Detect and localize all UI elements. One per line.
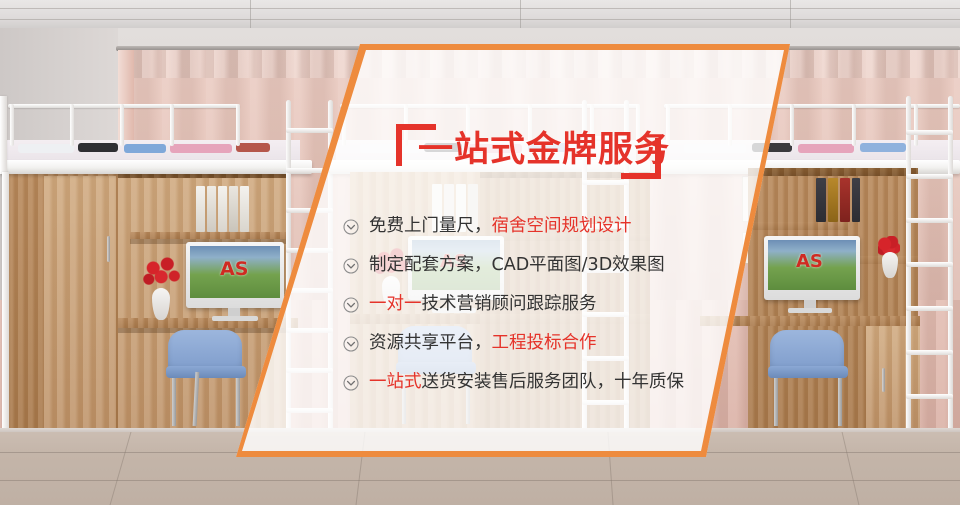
service-item-highlight: 宿舍空间规划设计 (492, 214, 632, 238)
circled-chevron-down-icon (343, 219, 359, 235)
service-item: 资源共享平台，工程投标合作 (343, 323, 743, 362)
service-item-highlight: 一对一 (369, 292, 422, 316)
page-title: 一站式金牌服务 (418, 128, 670, 172)
service-item-text: 技术营销顾问跟踪服务 (422, 292, 597, 316)
service-item-text: 资源共享平台， (369, 331, 492, 355)
service-list: 免费上门量尺，宿舍空间规划设计制定配套方案，CAD平面图/3D效果图一对一技术营… (343, 206, 743, 401)
circled-chevron-down-icon (343, 336, 359, 352)
corner-bracket-icon (396, 124, 402, 166)
service-item-highlight: 一站式 (369, 370, 422, 394)
circled-chevron-down-icon (343, 375, 359, 391)
service-item: 制定配套方案，CAD平面图/3D效果图 (343, 245, 743, 284)
promo-banner: AS (0, 0, 960, 505)
heading-block: 一站式金牌服务 (396, 120, 676, 186)
service-item: 一站式送货安装售后服务团队，十年质保 (343, 362, 743, 401)
banner-content: 一站式金牌服务 免费上门量尺，宿舍空间规划设计制定配套方案，CAD平面图/3D效… (0, 0, 960, 505)
circled-chevron-down-icon (343, 297, 359, 313)
service-item: 免费上门量尺，宿舍空间规划设计 (343, 206, 743, 245)
service-item-text: 免费上门量尺， (369, 214, 492, 238)
service-item-highlight: 工程投标合作 (492, 331, 597, 355)
service-item-text: 送货安装售后服务团队，十年质保 (422, 370, 685, 394)
corner-bracket-icon (655, 138, 661, 179)
service-item: 一对一技术营销顾问跟踪服务 (343, 284, 743, 323)
service-item-text: 制定配套方案，CAD平面图/3D效果图 (369, 253, 665, 277)
circled-chevron-down-icon (343, 258, 359, 274)
